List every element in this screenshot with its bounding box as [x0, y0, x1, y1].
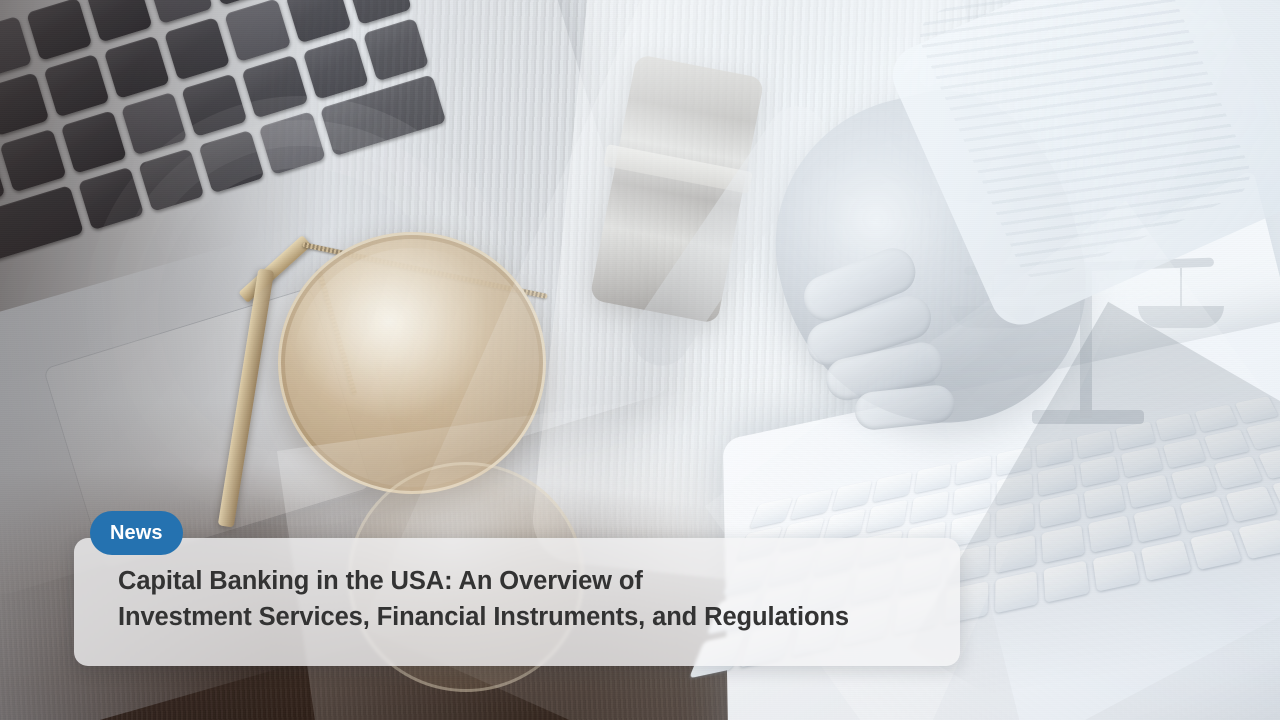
article-hero-banner: News Capital Banking in the USA: An Over… — [0, 0, 1280, 720]
news-category-badge[interactable]: News — [90, 511, 183, 555]
article-title-line-2: Investment Services, Financial Instrumen… — [118, 599, 938, 635]
article-title: Capital Banking in the USA: An Overview … — [118, 563, 938, 635]
article-title-line-1: Capital Banking in the USA: An Overview … — [118, 563, 938, 599]
